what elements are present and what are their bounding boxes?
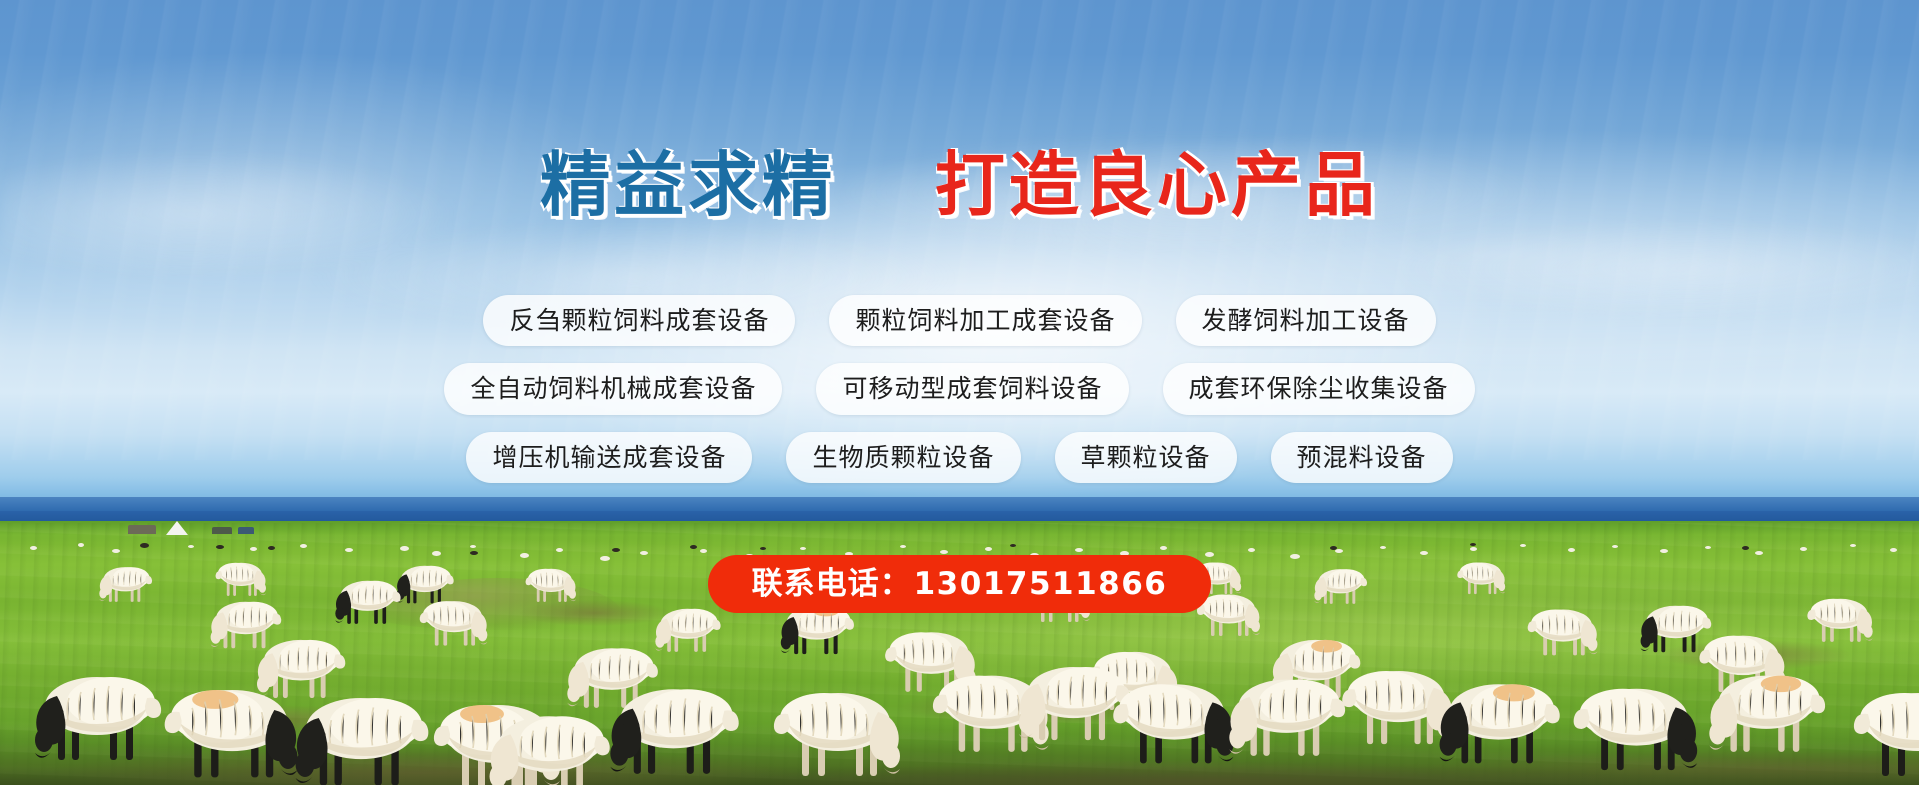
product-category-list: 反刍颗粒饲料成套设备颗粒饲料加工成套设备发酵饲料加工设备全自动饲料机械成套设备可… (0, 295, 1919, 500)
distant-hut-icon (238, 527, 254, 534)
promo-banner: 精益求精 打造良心产品 反刍颗粒饲料成套设备颗粒饲料加工成套设备发酵饲料加工设备… (0, 0, 1919, 785)
sheep (760, 676, 910, 785)
product-category-pill[interactable]: 反刍颗粒饲料成套设备 (483, 295, 795, 346)
distant-sheep-speck (1568, 548, 1575, 552)
sheep (480, 700, 623, 785)
contact-label: 联系电话： (752, 564, 912, 604)
distant-yak-speck (690, 545, 697, 549)
distant-sheep-speck (345, 548, 353, 552)
distant-sheep-speck (1705, 546, 1711, 549)
distant-hut-icon (212, 527, 232, 534)
distant-yak-speck (140, 543, 149, 548)
product-category-pill[interactable]: 全自动饲料机械成套设备 (444, 363, 782, 414)
distant-sheep-speck (1890, 548, 1897, 552)
sheep (1840, 676, 1919, 785)
product-category-pill[interactable]: 增压机输送成套设备 (466, 432, 752, 483)
distant-sheep-speck (112, 549, 120, 553)
product-category-pill[interactable]: 可移动型成套饲料设备 (816, 363, 1128, 414)
distant-sheep-speck (700, 549, 707, 553)
distant-sheep-speck (1850, 544, 1856, 547)
distant-sheep-speck (940, 550, 948, 554)
product-category-row: 全自动饲料机械成套设备可移动型成套饲料设备成套环保除尘收集设备 (0, 363, 1919, 414)
product-category-row: 反刍颗粒饲料成套设备颗粒饲料加工成套设备发酵饲料加工设备 (0, 295, 1919, 346)
distant-sheep-speck (1160, 546, 1167, 550)
headline-red-text: 打造良心产品 (935, 150, 1379, 220)
headline-blue-text: 精益求精 (540, 150, 836, 220)
distant-yak-speck (1470, 543, 1476, 546)
distant-yak-speck (216, 545, 224, 549)
distant-sheep-speck (1470, 547, 1477, 551)
distant-sheep-speck (250, 547, 257, 551)
product-category-pill[interactable]: 发酵饲料加工设备 (1176, 295, 1436, 346)
distant-sheep-speck (985, 547, 992, 551)
distant-yak-speck (1010, 544, 1016, 547)
distant-sheep-speck (300, 544, 307, 548)
distant-sheep-speck (1520, 544, 1526, 547)
distant-sheep-speck (1335, 549, 1343, 553)
sheep (1430, 668, 1573, 773)
distant-hut-icon (128, 525, 156, 534)
distant-yak-speck (1742, 546, 1749, 550)
distant-yak-speck (268, 546, 275, 550)
contact-phone-button[interactable]: 联系电话： 13017511866 (708, 555, 1212, 613)
product-category-pill[interactable]: 草颗粒设备 (1055, 432, 1237, 483)
distant-sheep-speck (1800, 547, 1807, 551)
distant-yak-speck (612, 548, 620, 552)
distant-sheep-speck (1660, 549, 1668, 553)
distant-sheep-speck (78, 543, 84, 547)
distant-sheep-speck (1075, 548, 1083, 552)
distant-yak-speck (1330, 546, 1337, 550)
distant-sheep-speck (800, 547, 806, 550)
distant-sheep-speck (900, 545, 906, 548)
sheep (1700, 660, 1838, 761)
product-category-pill[interactable]: 成套环保除尘收集设备 (1163, 363, 1475, 414)
distant-sheep-speck (1380, 546, 1386, 549)
distant-sheep-speck (1248, 548, 1255, 552)
distant-sheep-speck (556, 548, 563, 552)
contact-phone-number: 13017511866 (914, 564, 1168, 604)
product-category-pill[interactable]: 预混料设备 (1271, 432, 1453, 483)
contact-bar: 联系电话： 13017511866 (0, 555, 1919, 613)
banner-headline: 精益求精 打造良心产品 (0, 150, 1919, 220)
distant-sheep-speck (470, 545, 476, 548)
distant-sheep-speck (188, 545, 194, 548)
sheep (1560, 672, 1707, 780)
distant-sheep-speck (1612, 545, 1618, 548)
distant-sheep-speck (400, 546, 409, 551)
product-category-row: 增压机输送成套设备生物质颗粒设备草颗粒设备预混料设备 (0, 432, 1919, 483)
distant-sheep-speck (30, 546, 37, 550)
distant-yak-speck (760, 547, 766, 550)
product-category-pill[interactable]: 颗粒饲料加工成套设备 (829, 295, 1141, 346)
product-category-pill[interactable]: 生物质颗粒设备 (786, 432, 1020, 483)
